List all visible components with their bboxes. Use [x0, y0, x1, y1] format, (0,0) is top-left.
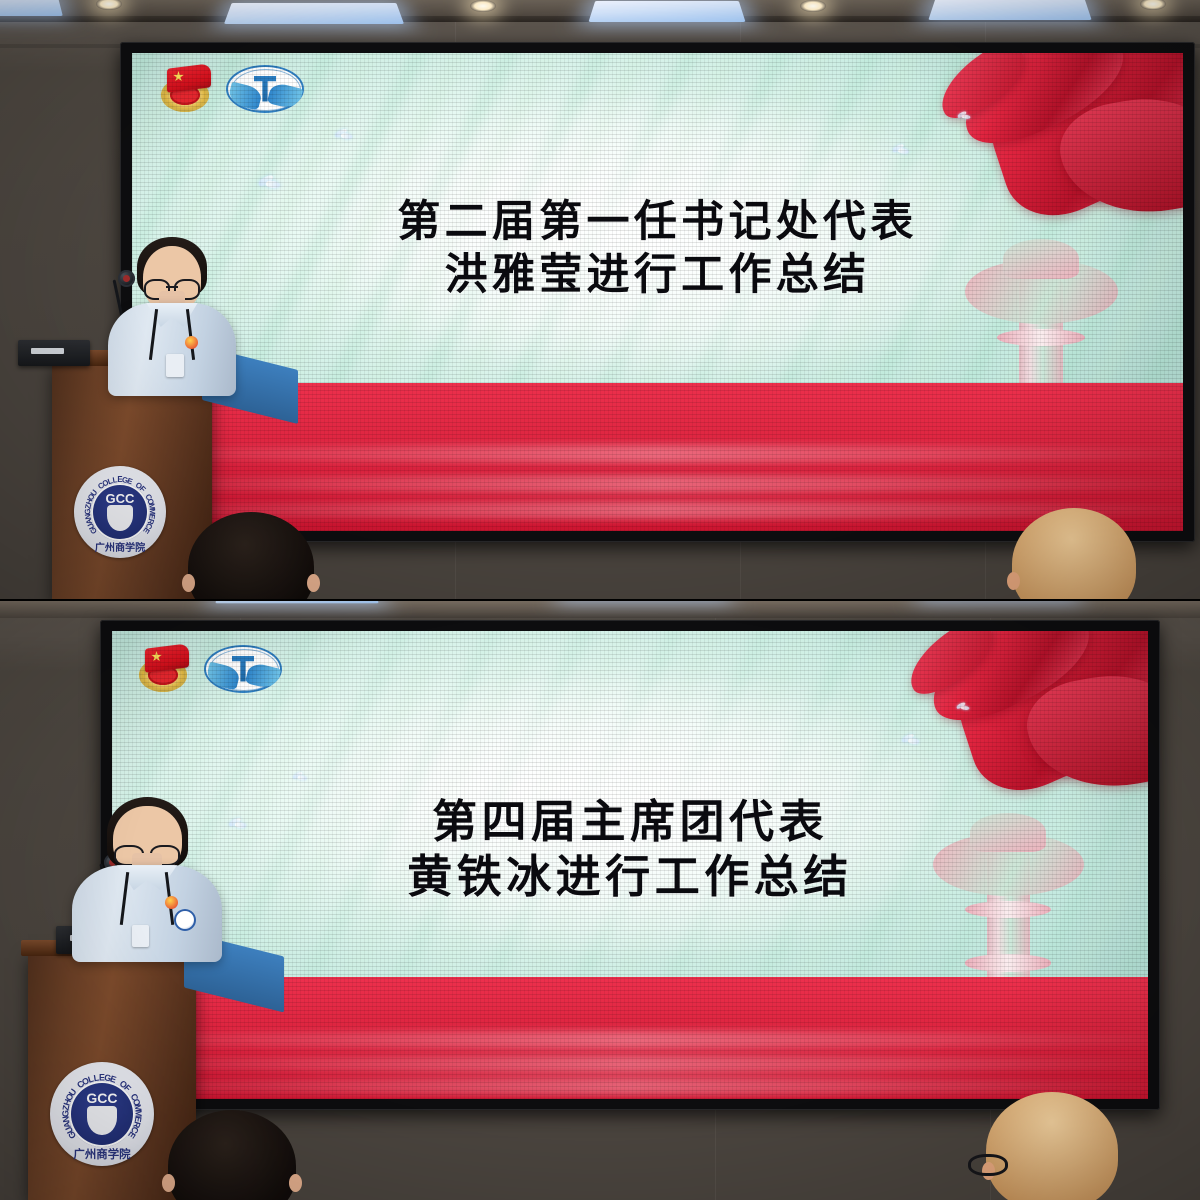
- led-screen: 第二届第一任书记处代表 洪雅莹进行工作总结: [120, 42, 1195, 542]
- led-screen-content: 第四届主席团代表 黄铁冰进行工作总结: [112, 631, 1148, 1099]
- slide-headline-line1: 第二届第一任书记处代表: [132, 196, 1183, 248]
- photo-collage: 第二届第一任书记处代表 洪雅莹进行工作总结: [0, 0, 1200, 1200]
- ceiling-light-panel: [928, 0, 1091, 20]
- ceiling: [0, 600, 1200, 618]
- podium-emblem-cn: 广州商学院: [74, 539, 166, 554]
- dove-icon: [892, 145, 912, 154]
- ceiling-light-panel: [588, 1, 745, 22]
- speaker-person: [72, 806, 222, 962]
- dove-icon: [902, 735, 923, 745]
- podium-emblem-cn: 广州商学院: [50, 1146, 154, 1162]
- dove-icon: [957, 113, 973, 120]
- id-card: [132, 925, 149, 947]
- dove-icon: [258, 177, 284, 189]
- slide-headline: 第四届主席团代表 黄铁冰进行工作总结: [112, 795, 1148, 905]
- podium-emblem: GCC GUANGZHOU COLLEGE OF COMMERCE广州商学院: [74, 466, 166, 558]
- slide-logos: [136, 645, 282, 693]
- college-of-modern-information-industry-logo-icon: [204, 645, 282, 693]
- college-of-modern-information-industry-logo-icon: [226, 65, 304, 113]
- podium-laptop: [18, 340, 90, 366]
- slide-headline-line2: 洪雅莹进行工作总结: [132, 249, 1183, 301]
- badge-round: [174, 909, 196, 931]
- audience-head-right: [986, 1092, 1118, 1200]
- communist-youth-league-emblem-icon: [136, 646, 190, 692]
- podium-emblem: GCC GUANGZHOU COLLEGE OF COMMERCE广州商学院: [50, 1062, 154, 1166]
- dove-icon: [293, 773, 310, 781]
- led-screen: 第四届主席团代表 黄铁冰进行工作总结: [100, 620, 1160, 1110]
- ceiling-downlight: [800, 0, 826, 12]
- dove-icon: [956, 704, 972, 711]
- dove-icon: [334, 131, 355, 141]
- glasses-icon: [968, 1154, 1008, 1176]
- photo-panel-top: 第二届第一任书记处代表 洪雅莹进行工作总结: [0, 0, 1200, 600]
- ceiling-light-panel: [224, 3, 404, 24]
- photo-panel-bottom: 第四届主席团代表 黄铁冰进行工作总结: [0, 600, 1200, 1200]
- id-card: [166, 354, 184, 377]
- ceiling-light-panel: [0, 0, 63, 16]
- collage-divider: [0, 599, 1200, 601]
- slide-headline-line1: 第四届主席团代表: [112, 795, 1148, 850]
- speaker-person: [108, 246, 236, 396]
- slide-headline: 第二届第一任书记处代表 洪雅莹进行工作总结: [132, 196, 1183, 301]
- ceiling-downlight: [470, 0, 496, 12]
- led-screen-content: 第二届第一任书记处代表 洪雅莹进行工作总结: [132, 53, 1183, 531]
- slide-logos: [158, 65, 304, 113]
- badge-pin: [185, 336, 198, 349]
- slide-headline-line2: 黄铁冰进行工作总结: [112, 850, 1148, 905]
- communist-youth-league-emblem-icon: [158, 66, 212, 112]
